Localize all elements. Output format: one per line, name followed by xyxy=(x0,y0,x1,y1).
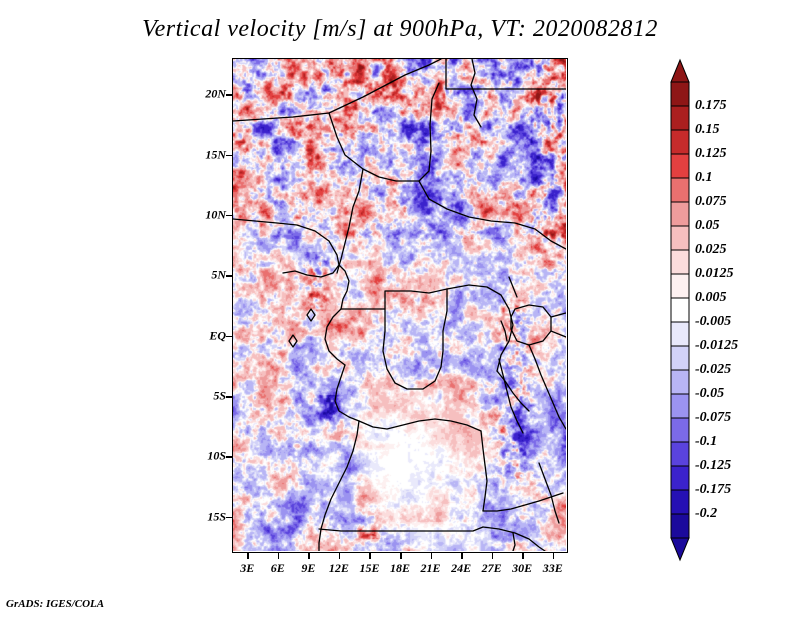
colorbar-tick-label: -0.2 xyxy=(695,506,717,522)
x-tick-mark xyxy=(522,553,524,559)
country-borders-overlay xyxy=(233,59,566,551)
colorbar-tick-label: -0.05 xyxy=(695,386,724,402)
x-tick-label: 6E xyxy=(271,561,285,576)
x-tick-label: 3E xyxy=(240,561,254,576)
x-tick-label: 12E xyxy=(329,561,349,576)
colorbar-tick-label: -0.125 xyxy=(695,458,731,474)
x-tick-label: 27E xyxy=(482,561,502,576)
x-tick-mark xyxy=(278,553,280,559)
y-tick-label: 20N xyxy=(205,87,226,102)
y-tick-label: EQ xyxy=(209,328,226,343)
y-tick-mark xyxy=(226,456,232,458)
colorbar-tick-label: -0.075 xyxy=(695,410,731,426)
colorbar-tick-label: 0.1 xyxy=(695,170,713,186)
x-tick-mark xyxy=(369,553,371,559)
colorbar-tick-label: 0.005 xyxy=(695,290,727,306)
x-tick-mark xyxy=(431,553,433,559)
colorbar-tick-label: 0.15 xyxy=(695,122,720,138)
x-tick-label: 21E xyxy=(421,561,441,576)
y-tick-label: 5N xyxy=(211,268,226,283)
y-tick-label: 10S xyxy=(207,449,226,464)
y-tick-label: 15N xyxy=(205,147,226,162)
map-plot-area[interactable] xyxy=(232,58,568,553)
x-tick-label: 24E xyxy=(451,561,471,576)
colorbar-tick-label: 0.025 xyxy=(695,242,727,258)
colorbar-tick-label: -0.0125 xyxy=(695,338,738,354)
page-title: Vertical velocity [m/s] at 900hPa, VT: 2… xyxy=(0,16,800,43)
y-tick-mark xyxy=(226,275,232,277)
y-tick-label: 15S xyxy=(207,509,226,524)
colorbar-tick-label: -0.025 xyxy=(695,362,731,378)
colorbar-tick-label: -0.175 xyxy=(695,482,731,498)
y-tick-mark xyxy=(226,396,232,398)
colorbar-tick-label: 0.175 xyxy=(695,98,727,114)
x-axis: 3E6E9E12E15E18E21E24E27E30E33E xyxy=(0,561,800,579)
x-tick-mark xyxy=(492,553,494,559)
x-tick-label: 33E xyxy=(543,561,563,576)
colorbar-tick-label: 0.0125 xyxy=(695,266,734,282)
x-tick-mark xyxy=(339,553,341,559)
y-tick-label: 10N xyxy=(205,207,226,222)
x-tick-mark xyxy=(400,553,402,559)
y-tick-label: 5S xyxy=(213,389,226,404)
colorbar-tick-label: 0.05 xyxy=(695,218,720,234)
x-tick-mark xyxy=(461,553,463,559)
x-tick-mark xyxy=(308,553,310,559)
x-tick-label: 18E xyxy=(390,561,410,576)
colorbar-tick-label: 0.075 xyxy=(695,194,727,210)
y-axis: 20N15N10N5NEQ5S10S15S xyxy=(180,58,226,553)
colorbar-swatches xyxy=(671,60,689,560)
colorbar[interactable] xyxy=(671,60,689,560)
x-tick-mark xyxy=(247,553,249,559)
y-tick-mark xyxy=(226,336,232,338)
y-tick-mark xyxy=(226,155,232,157)
colorbar-tick-label: -0.1 xyxy=(695,434,717,450)
colorbar-tick-label: -0.005 xyxy=(695,314,731,330)
x-tick-label: 9E xyxy=(301,561,315,576)
y-tick-mark xyxy=(226,517,232,519)
x-tick-label: 30E xyxy=(512,561,532,576)
x-tick-label: 15E xyxy=(359,561,379,576)
y-tick-mark xyxy=(226,94,232,96)
grads-credit: GrADS: IGES/COLA xyxy=(6,598,104,610)
colorbar-tick-label: 0.125 xyxy=(695,146,727,162)
y-tick-mark xyxy=(226,215,232,217)
x-tick-mark xyxy=(553,553,555,559)
